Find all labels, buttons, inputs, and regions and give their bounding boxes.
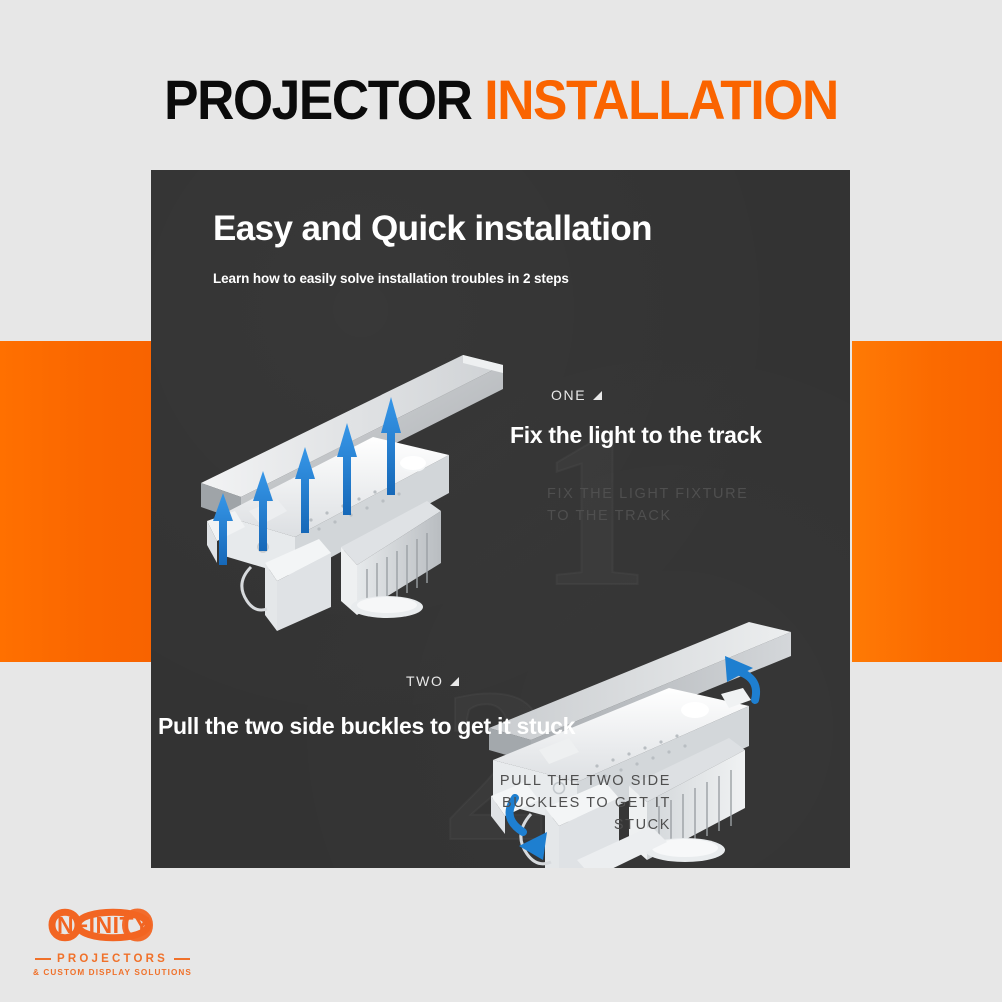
panel-heading: Easy and Quick installation xyxy=(213,209,652,249)
triangle-marker-icon xyxy=(450,677,459,686)
instruction-panel: Easy and Quick installation Learn how to… xyxy=(151,170,850,868)
logo-tagline: PROJECTORS xyxy=(57,953,168,965)
orange-accent-block-left xyxy=(0,341,151,662)
page-title: PROJECTORINSTALLATION xyxy=(40,72,962,128)
logo-brand-text: INFINITY xyxy=(50,912,150,938)
triangle-marker-icon xyxy=(593,391,602,400)
poster-canvas: PROJECTORINSTALLATION Easy and Quick ins… xyxy=(0,0,1002,1002)
step-two-heading: Pull the two side buckles to get it stuc… xyxy=(158,713,575,740)
brand-logo: INFINITY PROJECTORS & CUSTOM DISPLAY SOL… xyxy=(30,895,195,980)
product-illustration-step-one xyxy=(191,315,521,635)
dash-left-icon xyxy=(35,958,51,960)
logo-subtagline: & CUSTOM DISPLAY SOLUTIONS xyxy=(30,968,195,977)
step-two-label-text: TWO xyxy=(406,673,443,689)
step-one-caption: FIX THE LIGHT FIXTURE TO THE TRACK xyxy=(547,483,748,527)
orange-accent-block-right xyxy=(852,341,1002,662)
step-one-label-text: ONE xyxy=(551,387,586,403)
logo-tagline-group: PROJECTORS & CUSTOM DISPLAY SOLUTIONS xyxy=(30,953,195,977)
infinity-logo-icon: INFINITY xyxy=(30,895,195,955)
step-two-caption: PULL THE TWO SIDE BUCKLES TO GET IT STUC… xyxy=(341,770,671,836)
logo-tagline-row: PROJECTORS xyxy=(30,953,195,965)
page-title-accent: INSTALLATION xyxy=(484,68,838,131)
page-title-primary: PROJECTOR xyxy=(164,68,471,131)
dash-right-icon xyxy=(174,958,190,960)
step-one-heading: Fix the light to the track xyxy=(510,422,762,449)
panel-subheading: Learn how to easily solve installation t… xyxy=(213,271,569,286)
step-two-label: TWO xyxy=(406,673,459,689)
step-one-label: ONE xyxy=(551,387,602,403)
